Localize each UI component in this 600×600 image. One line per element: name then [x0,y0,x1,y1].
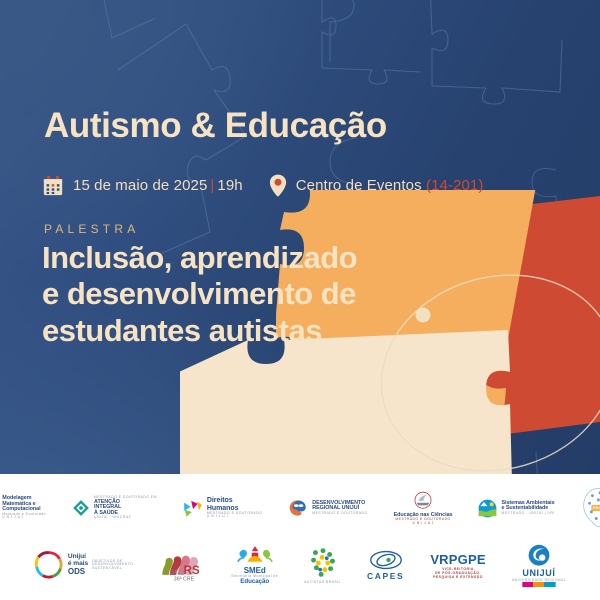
logo-label: VRPGPE [430,552,485,567]
unijui-color-bar-icon [522,582,556,587]
logo-atencao-integral-a-saude: MESTRADO E DOUTORADO EM ATENÇÃO INTEGRAL… [72,496,157,519]
event-date-value: 15 de maio de 2025 [73,177,207,194]
logo-gov-rs-36-cre: GOV RS 36ª CRE [159,548,205,582]
logo-direitos-humanos: Direitos Humanos MESTRADO E DOUTORADO U … [183,497,262,518]
logo-vrpgpe: VRPGPE VICE-REITORIA DE PÓS-GRADUAÇÃO, P… [430,552,485,579]
logo-smed-educacao: SMEd Secretaria Municipal de Educação [231,545,278,585]
logo-sublabel: SUSTENTÁVEL [92,567,133,570]
logo-unijui: UNIJUÍ UNIVERSIDADE REGIONAL [512,544,566,587]
logo-capes: CAPES [367,549,404,581]
logo-label: CAPES [367,571,404,581]
logo-sublabel: PESQUISA E EXTENSÃO [433,575,483,579]
event-meta: 15 de maio de 2025|19h Centro de Eventos… [42,174,483,197]
logo-sistemas-ambientais-sustentabilidade: Sistemas Ambientais e Sustentabilidade M… [478,499,554,518]
event-date-text: 15 de maio de 2025|19h [73,177,243,194]
event-date: 15 de maio de 2025|19h [42,175,243,197]
page-title: Autismo & Educação [44,108,387,145]
map-pin-icon [269,174,287,197]
event-poster: Autismo & Educação [0,0,600,600]
sponsor-logo-strip: Modelagem Matemática e Computacional Mes… [0,474,600,600]
headline-line-1: Inclusão, aprendizado [42,240,472,276]
gov-rs-silhouettes-icon: GOV RS 36ª CRE [159,548,205,582]
event-venue-value: Centro de Eventos [296,177,422,194]
section-kicker: PALESTRA [44,222,139,236]
logo-label: AUTISTAS BRASIL [304,580,341,584]
calendar-icon [42,175,64,197]
logo-label: PROEF [592,506,600,511]
unijui-wave-icon [527,544,551,568]
meta-separator: | [207,177,217,194]
logo-row-1: Modelagem Matemática e Computacional Mes… [0,474,600,536]
head-profile-icon [288,499,308,517]
book-lamp-icon [412,491,434,512]
diamond-knot-icon [72,499,90,517]
logo-sublabel: U N I J U Í [207,515,262,518]
smed-figures-icon [237,545,273,567]
logo-modelagem-matematica-computacional: Modelagem Matemática e Computacional Mes… [0,496,46,519]
ods-ring-icon [34,550,64,580]
logo-label: UNIJUÍ [522,568,555,578]
brazil-map-icons-icon: PROEF [581,488,600,528]
logo-label: GOV [170,569,185,576]
capes-eye-icon [369,549,403,571]
logo-sublabel: 36ª CRE [174,577,195,582]
event-location-text: Centro de Eventos (14-201) [296,177,484,194]
poster-content: Autismo & Educação [0,0,600,474]
event-room-value: (14-201) [426,177,484,194]
logo-sublabel: U N I J U Í [412,522,433,525]
event-location: Centro de Eventos (14-201) [269,174,484,197]
people-arrow-icon [183,499,203,518]
logo-desenvolvimento-regional-unijui: DESENVOLVIMENTO REGIONAL UNIJUÍ MESTRADO… [288,499,367,517]
logo-label: Direitos [207,497,262,504]
headline-line-3: estudantes autistas [42,313,472,349]
logo-unijui-e-mais-ods: Unijuí é mais ODS OBJETIVOS DE DESENVOLV… [34,550,133,580]
logo-label: ODS [68,568,88,576]
logo-sublabel: UNIJUÍ · UNICRUZ [94,516,157,519]
logo-sublabel: U N I J U Í [2,516,46,519]
logo-label: RS [184,565,200,577]
lecture-headline: Inclusão, aprendizado e desenvolvimento … [42,240,472,349]
logo-proef: PROEF [581,488,600,528]
logo-autistas-brasil: AUTISTAS BRASIL [304,546,341,584]
event-time-value: 19h [217,177,242,194]
logo-sublabel: MESTRADO E DOUTORADO [312,512,367,515]
landscape-circle-icon [478,499,497,518]
logo-sublabel: MESTRADO - UNIJUÍ | URI [501,512,554,515]
headline-line-2: e desenvolvimento de [42,276,472,312]
logo-label: Educação [240,579,269,585]
logo-row-2: Unijuí é mais ODS OBJETIVOS DE DESENVOLV… [0,536,600,594]
logo-educacao-nas-ciencias: Educação nas Ciências MESTRADO E DOUTORA… [394,491,453,525]
autistas-brasil-map-icon [306,546,340,580]
